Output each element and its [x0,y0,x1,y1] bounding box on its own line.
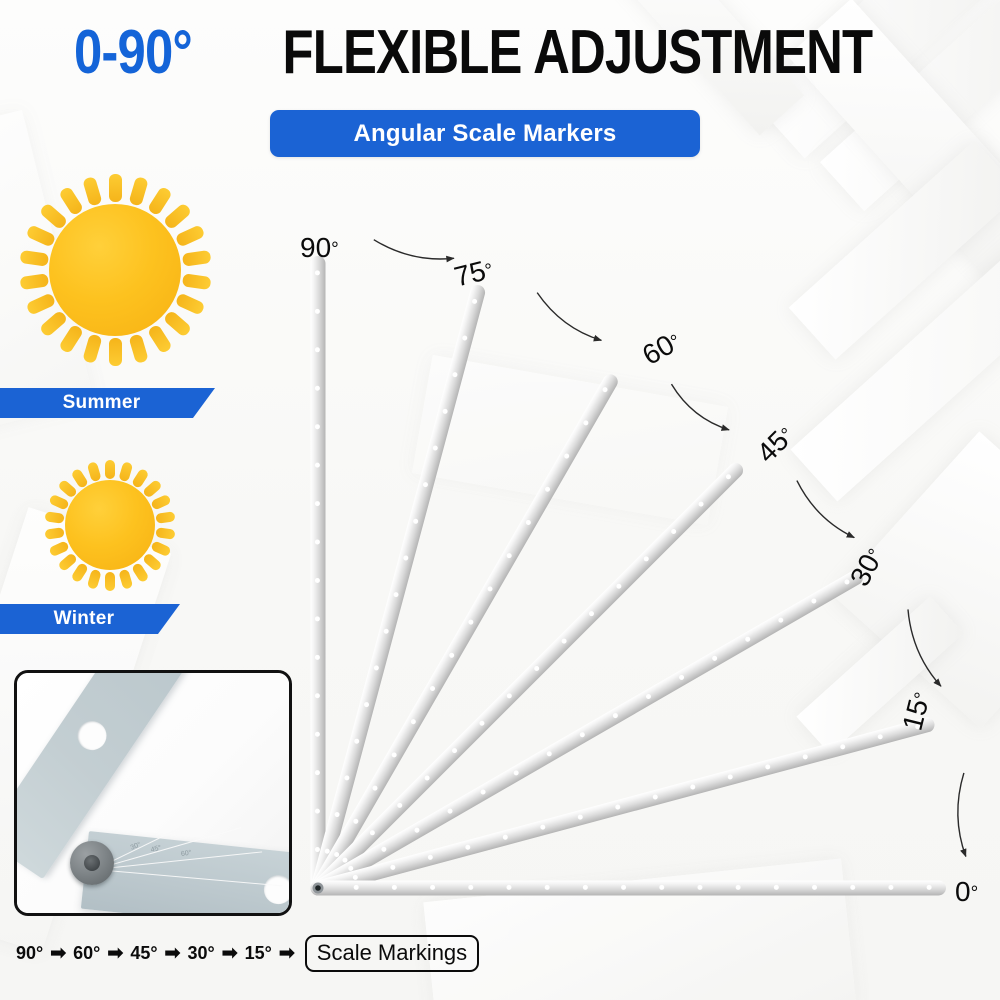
bar-hole [315,770,320,775]
bar-hole [774,885,779,890]
pivot-bolt-head [315,885,321,891]
bar-hole [315,540,320,545]
bar-hole [315,501,320,506]
scale-tick-label: 60° [181,850,192,858]
degree-symbol: ° [331,239,339,260]
bar-hole [315,309,320,314]
arrow-right-icon: ➡ [165,944,181,963]
bar-hole [315,655,320,660]
transition-arrow [908,609,941,686]
sequence-value: 90° [16,943,43,964]
bar-hole [888,885,893,890]
bar-hole [468,885,473,890]
bar-hole [315,616,320,621]
transition-arrow [671,384,729,430]
bar-hole [850,885,855,890]
bar-hole [583,885,588,890]
bar-hole [315,732,320,737]
scale-markings-label: Scale Markings [317,940,467,965]
mounting-hole [262,874,292,906]
arrow-right-icon: ➡ [50,944,66,963]
bar-hole [659,885,664,890]
bar-hole [354,885,359,890]
bar-hole [315,847,320,852]
angle-value: 90 [300,232,331,263]
angle-label-90: 90° [300,232,339,264]
scale-markings-box: Scale Markings [305,935,479,972]
pivot-bolt-icon [70,841,114,885]
arrow-right-icon: ➡ [107,944,123,963]
mounting-hole [72,715,112,755]
bar-hole [927,885,932,890]
bar-hole [812,885,817,890]
sequence-value: 45° [130,943,157,964]
sequence-value: 15° [245,943,272,964]
bar-hole [506,885,511,890]
pivot-point [313,883,324,894]
angle-bar [311,256,326,896]
bar-hole [621,885,626,890]
bar-hole [545,885,550,890]
bar-hole [315,578,320,583]
bar-hole [315,347,320,352]
bar-hole [315,463,320,468]
bar-hole [430,885,435,890]
bar-hole [315,809,320,814]
degree-symbol: ° [971,883,979,904]
scale-sequence: 90° ➡ 60° ➡ 45° ➡ 30° ➡ 15° ➡ Scale Mark… [16,935,479,972]
arrow-right-icon: ➡ [279,944,295,963]
bar-hole [697,885,702,890]
bar-hole [736,885,741,890]
bar-hole [315,386,320,391]
transition-arrow [537,293,601,341]
angle-value: 0 [955,876,971,907]
bar-hole [315,693,320,698]
transition-arrow [374,240,454,259]
angle-label-0: 0° [955,876,978,908]
bar-hole [315,270,320,275]
transition-arrow [958,773,966,857]
sequence-value: 30° [187,943,214,964]
bar-hole [392,885,397,890]
product-closeup-photo: 30° 45° 60° [14,670,292,916]
bar-hole [315,424,320,429]
angle-bar [311,881,947,896]
sequence-value: 60° [73,943,100,964]
arrow-right-icon: ➡ [222,944,238,963]
transition-arrow [797,481,854,538]
